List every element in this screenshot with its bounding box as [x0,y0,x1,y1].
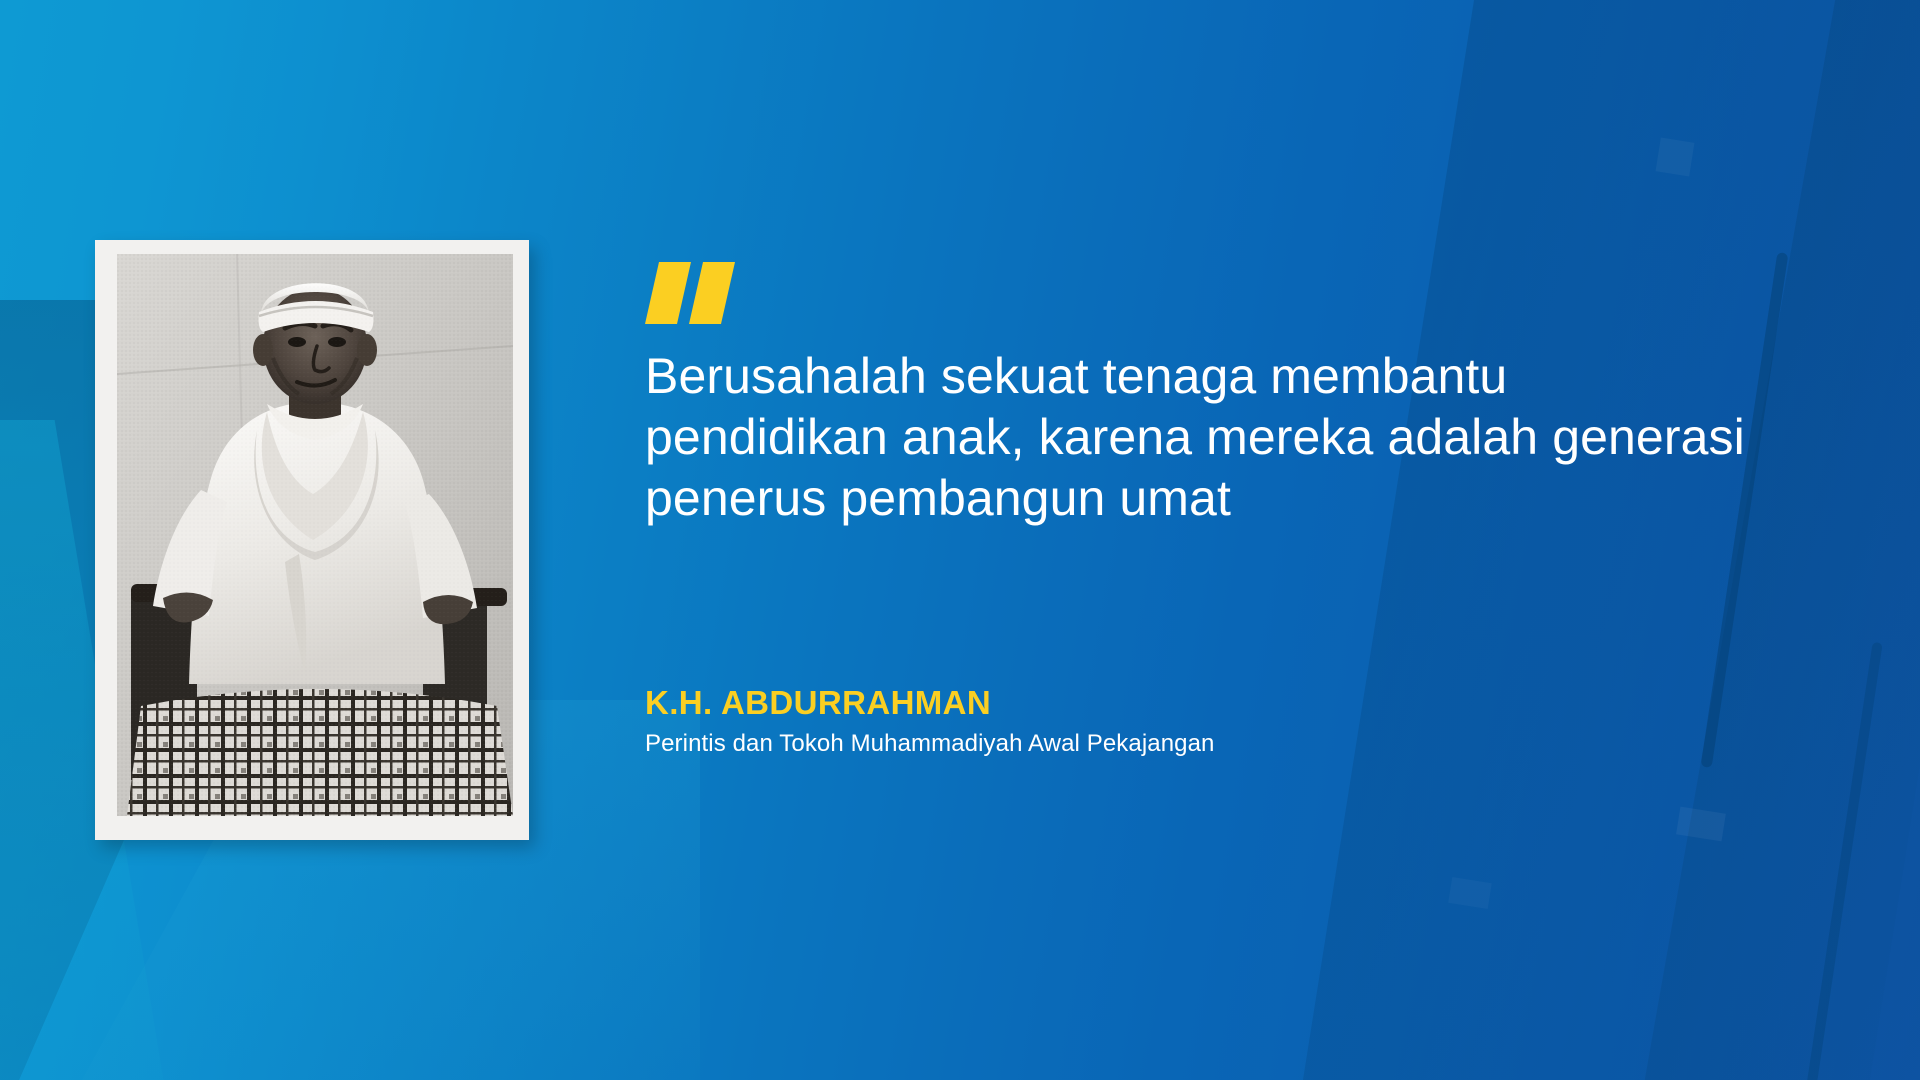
photo-mat [117,254,513,816]
background-diagonal-right-dark-secondary [1630,0,1920,1080]
author-role: Perintis dan Tokoh Muhammadiyah Awal Pek… [645,730,1545,758]
quote-slide: Berusahalah sekuat tenaga membantu pendi… [0,0,1920,1080]
quote-text: Berusahalah sekuat tenaga membantu pendi… [645,346,1755,529]
background-stroke-line-lower [1803,642,1882,1080]
background-glint-bottom-center [1448,877,1492,909]
background-glint-bottom-right [1676,807,1726,842]
background-glint-top-right [1656,138,1695,177]
background-diagonal-right-dark [1297,0,1920,1080]
portrait-photo-image [117,254,513,816]
author-name: K.H. ABDURRAHMAN [645,684,1545,722]
attribution-block: K.H. ABDURRAHMAN Perintis dan Tokoh Muha… [645,684,1545,758]
quote-block: Berusahalah sekuat tenaga membantu pendi… [645,262,1765,529]
portrait-photo-frame [95,240,529,840]
double-quote-mark-icon [645,262,745,324]
